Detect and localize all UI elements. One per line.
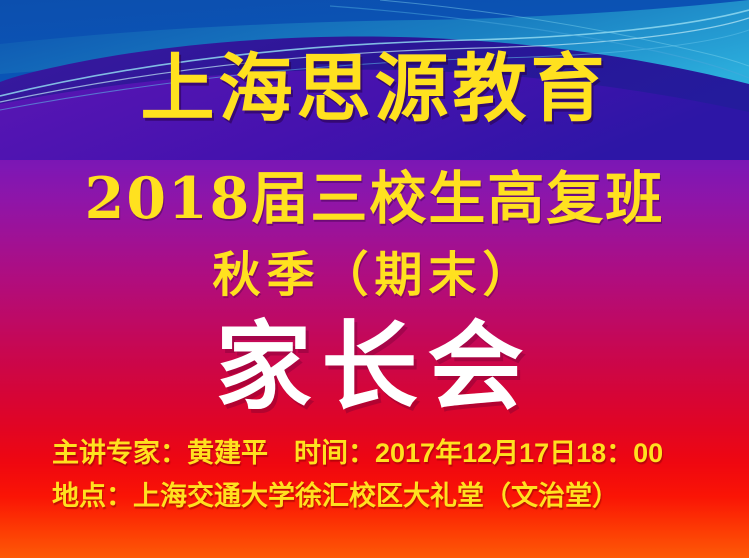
speaker-label: 主讲专家： xyxy=(52,438,187,468)
time-label: 时间： xyxy=(294,438,375,468)
speaker-name: 黄建平 xyxy=(187,438,268,468)
speaker-and-time-line: 主讲专家：黄建平时间：2017年12月17日18：00 xyxy=(52,440,712,467)
location-line: 地点：上海交通大学徐汇校区大礼堂（文治堂） xyxy=(52,483,712,510)
event-poster: 上海思源教育 2018届三校生高复班 秋季（期末） 家长会 主讲专家：黄建平时间… xyxy=(0,0,749,558)
program-title: 2018届三校生高复班 xyxy=(0,170,749,227)
organization-title: 上海思源教育 xyxy=(0,52,749,126)
location-label: 地点： xyxy=(52,481,133,511)
term-title: 秋季（期末） xyxy=(0,252,749,300)
location-value: 上海交通大学徐汇校区大礼堂（文治堂） xyxy=(133,481,619,511)
poster-content: 上海思源教育 2018届三校生高复班 秋季（期末） 家长会 主讲专家：黄建平时间… xyxy=(0,0,749,558)
time-value: 2017年12月17日18：00 xyxy=(375,438,663,468)
event-title: 家长会 xyxy=(0,320,749,416)
